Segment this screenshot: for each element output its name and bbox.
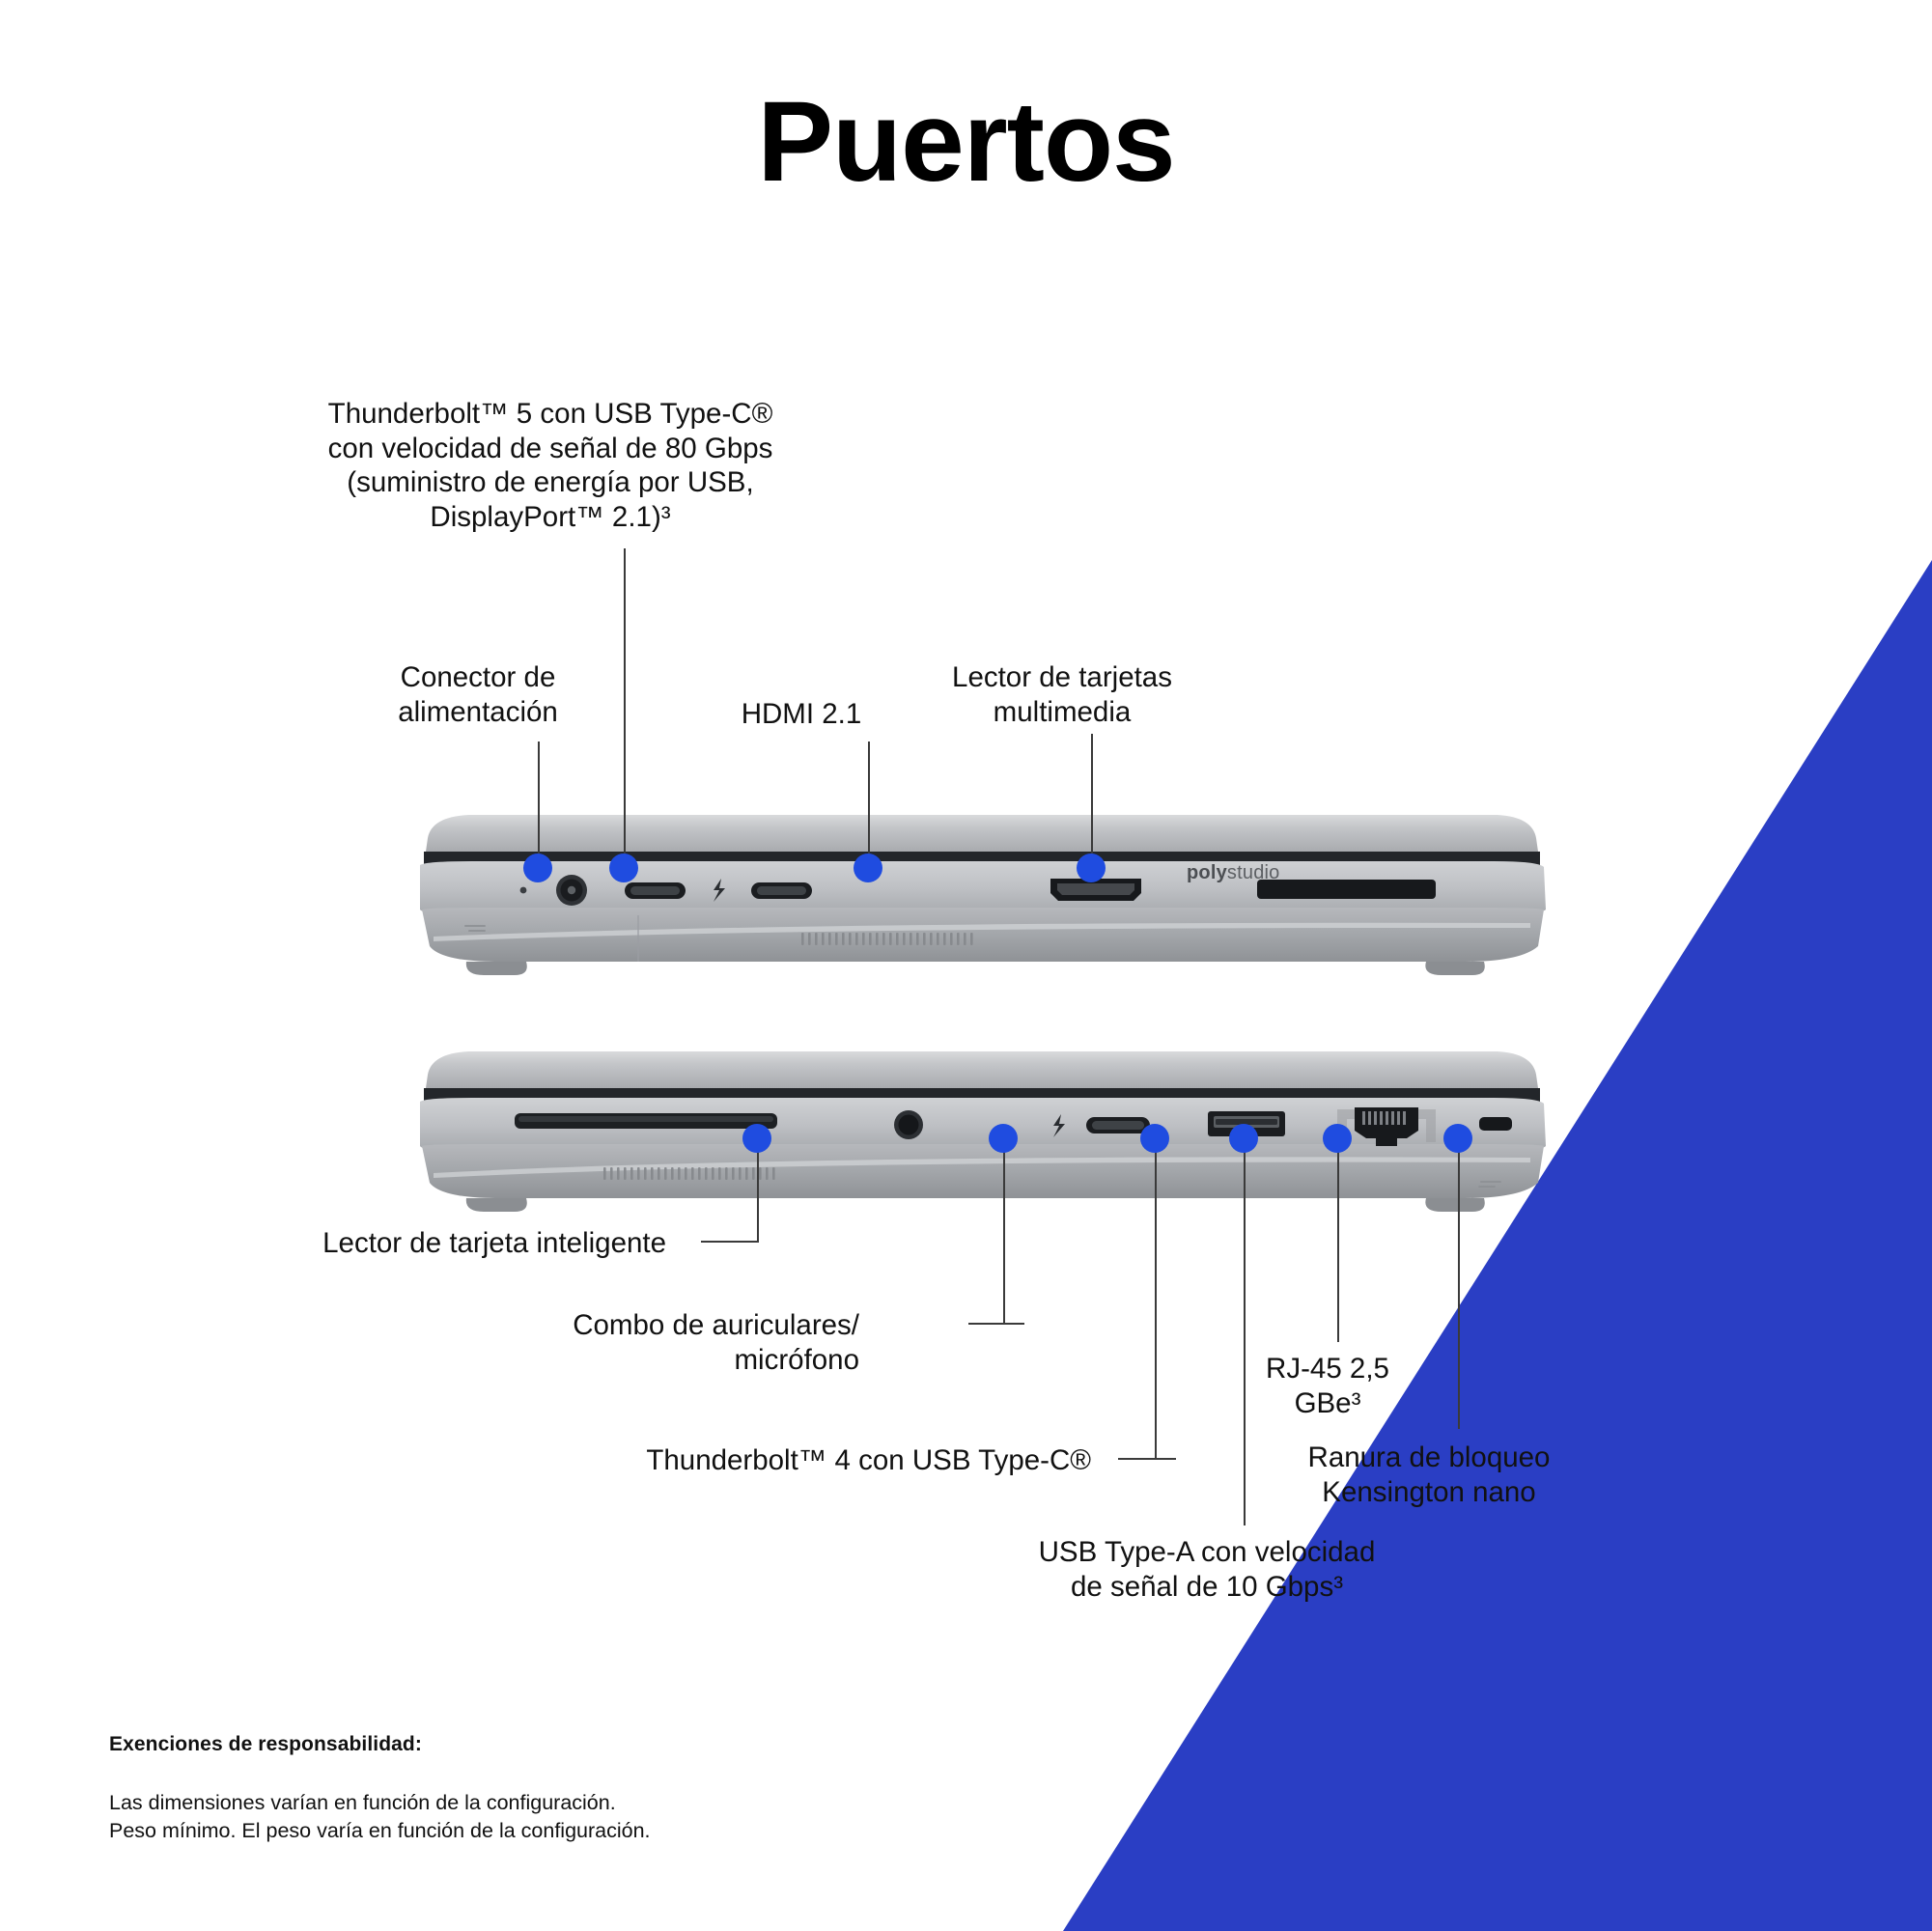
poly-wordmark: poly [1187, 862, 1227, 883]
leader-line-rj45 [1337, 1139, 1339, 1342]
callout-label-card-reader: Lector de tarjetas multimedia [879, 660, 1246, 729]
callout-dot-kensington [1443, 1124, 1472, 1153]
page-title: Puertos [0, 85, 1932, 199]
callout-dot-smart-card-reader [742, 1124, 771, 1153]
callout-dot-thunderbolt5 [609, 854, 638, 882]
callout-label-rj45: RJ-45 2,5 GBe³ [1212, 1352, 1443, 1420]
callout-label-power-connector: Conector de alimentación [362, 660, 594, 729]
callout-dot-headphone-combo [989, 1124, 1018, 1153]
disclaimer-heading: Exenciones de responsabilidad: [109, 1733, 422, 1756]
leader-line-headphone-combo-h [968, 1323, 1024, 1325]
leader-line-smart-card-reader-h [701, 1241, 759, 1243]
laptop-bottom-edge-illustration [410, 1038, 1550, 1212]
leader-line-kensington [1458, 1139, 1460, 1429]
leader-line-smart-card-reader-v [757, 1139, 759, 1243]
poly-studio-branding: polystudio [1187, 862, 1280, 884]
leader-line-thunderbolt5 [624, 548, 626, 867]
callout-label-headphone-combo: Combo de auriculares/ micrófono [415, 1308, 859, 1377]
leader-line-power-connector [538, 742, 540, 867]
callout-dot-rj45 [1323, 1124, 1352, 1153]
callout-dot-usb-type-a [1229, 1124, 1258, 1153]
blue-corner-wedge [1063, 560, 1932, 1931]
callout-label-kensington: Ranura de bloqueo Kensington nano [1265, 1441, 1593, 1509]
callout-label-thunderbolt4: Thunderbolt™ 4 con USB Type-C® [463, 1443, 1091, 1478]
callout-dot-thunderbolt4 [1140, 1124, 1169, 1153]
laptop-top-edge-illustration [410, 801, 1550, 975]
callout-dot-power-connector [523, 854, 552, 882]
leader-line-headphone-combo-v [1003, 1139, 1005, 1325]
callout-dot-hdmi [854, 854, 882, 882]
leader-line-usb-type-a [1244, 1139, 1246, 1525]
callout-label-thunderbolt5: Thunderbolt™ 5 con USB Type-C® con veloc… [290, 397, 811, 535]
callout-label-hdmi: HDMI 2.1 [695, 697, 908, 732]
callout-label-usb-type-a: USB Type-A con velocidad de señal de 10 … [985, 1535, 1429, 1604]
studio-wordmark: studio [1227, 862, 1280, 883]
leader-line-thunderbolt4-h [1118, 1458, 1176, 1460]
leader-line-card-reader [1091, 734, 1093, 867]
callout-dot-card-reader [1077, 854, 1106, 882]
callout-label-smart-card-reader: Lector de tarjeta inteligente [193, 1226, 666, 1261]
leader-line-hdmi [868, 742, 870, 867]
disclaimer-body: Las dimensiones varían en función de la … [109, 1789, 651, 1844]
leader-line-thunderbolt4-v [1155, 1139, 1157, 1460]
ports-diagram-page: Puertos [0, 0, 1932, 1931]
